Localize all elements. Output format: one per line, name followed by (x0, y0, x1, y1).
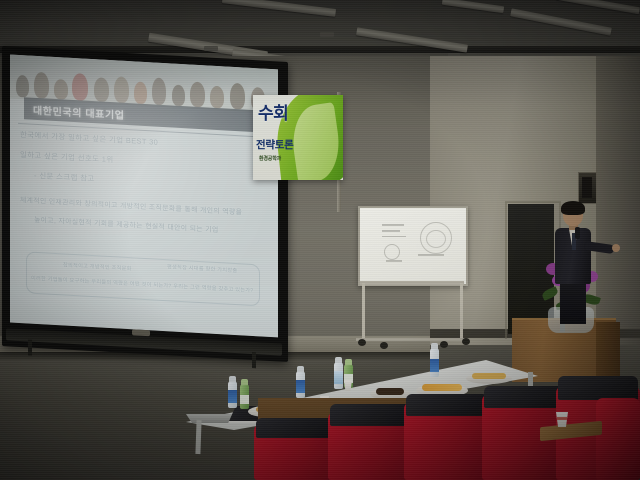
screen-leg (252, 352, 256, 368)
banner-title: 수회 (258, 99, 288, 124)
ceiling-vent (320, 32, 334, 37)
bottle-label (430, 359, 439, 372)
bottle-label (240, 395, 249, 404)
presentation-slide: 대한민국의 대표기업 한국에서 가장 일하고 싶은 기업 BEST 30 일하고… (10, 54, 278, 337)
conference-room-photo: 대한민국의 대표기업 한국에서 가장 일하고 싶은 기업 BEST 30 일하고… (0, 0, 640, 480)
water-bottle (296, 371, 305, 398)
bottle-label (228, 390, 237, 403)
presenter (548, 203, 600, 325)
screen-surface: 대한민국의 대표기업 한국에서 가장 일하고 싶은 기업 BEST 30 일하고… (10, 54, 278, 337)
slide-box-line: 평생직장 시대를 향한 가치창출 (167, 263, 237, 274)
water-bottle (334, 362, 343, 389)
microphone-icon (575, 227, 580, 239)
seat-back (596, 398, 640, 480)
ceiling-vent (204, 46, 218, 51)
seat-headrest (256, 418, 334, 438)
fruit-food (472, 373, 506, 379)
screen-pull-knob (132, 329, 150, 336)
slide-line: - 신문 스크랩 참고 (20, 169, 270, 194)
screen-leg (28, 339, 32, 355)
dessert-food (376, 388, 404, 395)
paper-cup (556, 412, 568, 427)
presenter-legs (560, 282, 586, 324)
whiteboard-caster (358, 339, 366, 346)
bottle-cap (229, 376, 236, 382)
bottle-cap (431, 343, 438, 349)
water-bottle (430, 348, 439, 377)
whiteboard-caster (380, 342, 388, 349)
banner-footnote: 환경공학과 (259, 155, 281, 162)
bottle-cap (241, 379, 248, 385)
whiteboard (358, 206, 468, 286)
seat-headrest (406, 394, 488, 416)
whiteboard-surface (360, 208, 466, 284)
whiteboard-caster (440, 341, 448, 348)
event-banner: 수회 전략토론 환경공학과 (253, 95, 343, 180)
whiteboard-caster (462, 338, 470, 345)
fruit-food (422, 384, 462, 391)
seat-headrest (330, 404, 412, 426)
slide-callout-box: 창의적이고 개방적인 조직문화 평생직장 시대를 향한 가치창출 이러한 기업들… (26, 251, 260, 306)
slide-body: 한국에서 가장 일하고 싶은 기업 BEST 30 일하고 싶은 기업 선호도 … (20, 129, 270, 246)
bottle-label (334, 371, 343, 384)
whiteboard-marker-tray (360, 281, 464, 285)
wall-speaker-icon (578, 172, 597, 204)
presenter-hand (612, 244, 620, 252)
whiteboard-leg (460, 283, 463, 341)
bottle-cap (335, 357, 342, 363)
bottle-cap (345, 359, 352, 365)
green-bottle (240, 384, 249, 409)
bottle-cap (297, 366, 304, 372)
whiteboard-leg (362, 283, 365, 341)
slide-line: 높이고, 자아실현적 기회를 제공하는 현실적 대안이 되는 기업 (20, 213, 270, 237)
seat-headrest (558, 376, 638, 400)
banner-subtitle: 전략토론 (256, 137, 293, 152)
slide-box-line: 이러한 기업들이 요구하는 우리들의 역량은 어떤 것이 되는가? 우리는 그런… (31, 275, 253, 294)
whiteboard-base (356, 338, 468, 341)
seat-headrest (484, 386, 564, 408)
slide-title: 대한민국의 대표기업 (24, 101, 125, 122)
water-bottle (228, 381, 237, 408)
slide-box-line: 창의적이고 개방적인 조직문화 (63, 261, 132, 272)
projection-screen: 대한민국의 대표기업 한국에서 가장 일하고 싶은 기업 BEST 30 일하고… (2, 46, 290, 368)
bottle-label (296, 380, 305, 393)
presenter-hair (561, 201, 585, 215)
